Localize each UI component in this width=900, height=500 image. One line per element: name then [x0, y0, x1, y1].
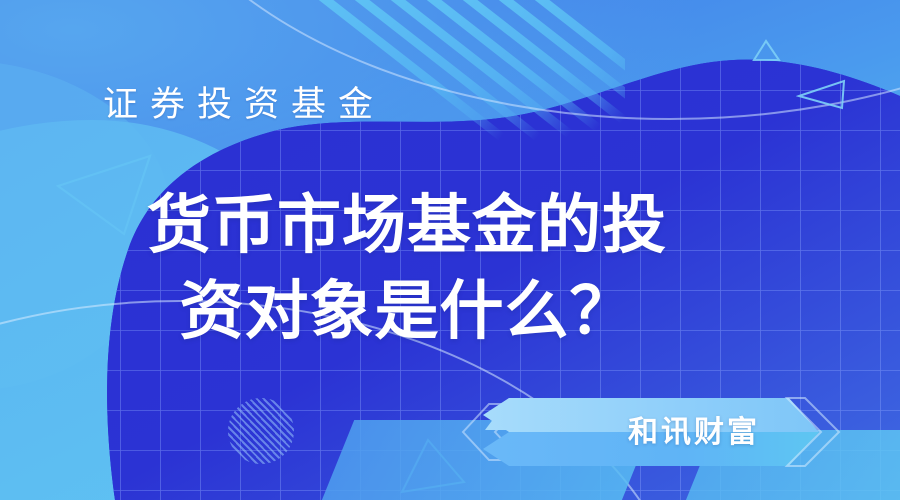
brand-banner: 和讯财富 — [487, 396, 837, 462]
poster-title-line-2: 资对象是什么？ — [0, 268, 820, 354]
decor-halftone-circle — [228, 398, 294, 464]
brand-badge-label: 和讯财富 — [579, 396, 809, 462]
poster-title: 货币市场基金的投 资对象是什么？ — [0, 182, 820, 354]
poster-subtitle: 证券投资基金 — [103, 76, 385, 127]
poster-title-line-1: 货币市场基金的投 — [0, 182, 820, 268]
poster-canvas: 证券投资基金 货币市场基金的投 资对象是什么？ — [0, 0, 900, 500]
